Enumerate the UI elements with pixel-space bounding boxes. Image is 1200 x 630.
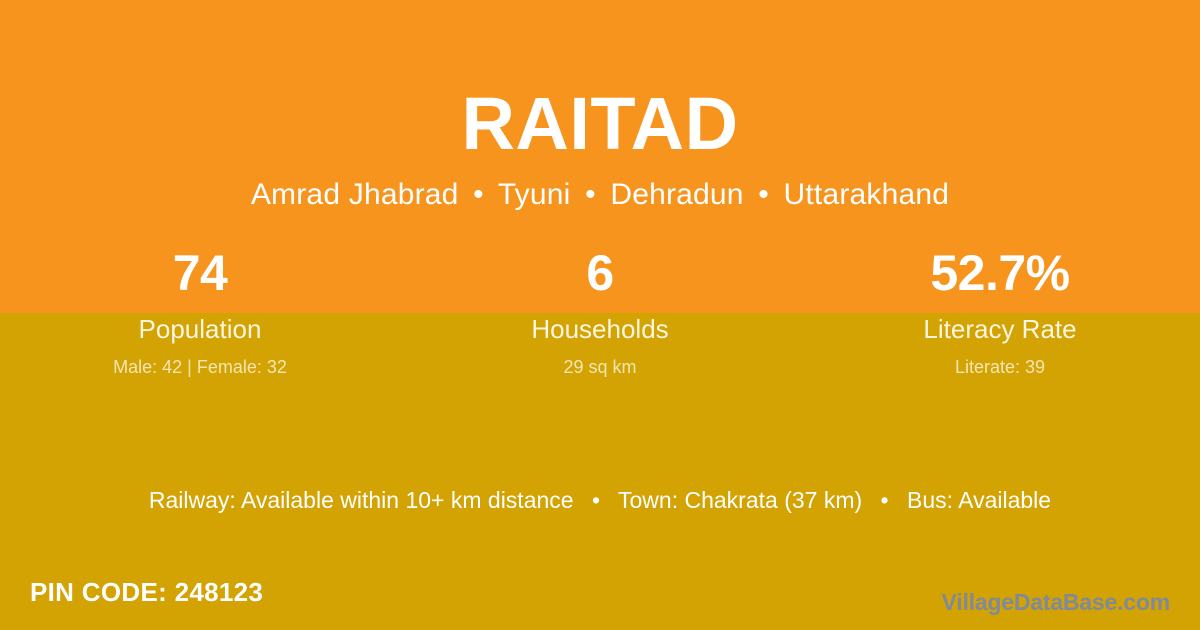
stat-households: 6 Households 29 sq km xyxy=(400,243,800,379)
stat-sublabel: Male: 42 | Female: 32 xyxy=(0,355,400,379)
amenity-separator: • xyxy=(869,487,901,513)
stat-sublabel: 29 sq km xyxy=(400,355,800,379)
amenity-separator: • xyxy=(580,487,612,513)
brand-watermark: VillageDataBase.com xyxy=(942,588,1170,616)
village-info-card: RAITAD Amrad Jhabrad • Tyuni • Dehradun … xyxy=(0,0,1200,630)
breadcrumb-state: Uttarakhand xyxy=(784,178,950,211)
amenity-bus: Bus: Available xyxy=(907,487,1051,513)
breadcrumb-district: Dehradun xyxy=(610,178,743,211)
stat-value: 52.7% xyxy=(800,243,1200,303)
breadcrumb-separator: • xyxy=(467,178,490,211)
amenities-line: Railway: Available within 10+ km distanc… xyxy=(0,483,1200,517)
breadcrumb-separator: • xyxy=(752,178,775,211)
breadcrumb-block: Tyuni xyxy=(498,178,571,211)
stats-row: 74 Population Male: 42 | Female: 32 6 Ho… xyxy=(0,243,1200,379)
amenity-railway: Railway: Available within 10+ km distanc… xyxy=(149,487,574,513)
breadcrumb: Amrad Jhabrad • Tyuni • Dehradun • Uttar… xyxy=(0,168,1200,214)
stat-literacy-rate: 52.7% Literacy Rate Literate: 39 xyxy=(800,243,1200,379)
stat-label: Population xyxy=(0,313,400,345)
stat-value: 74 xyxy=(0,243,400,303)
amenity-town: Town: Chakrata (37 km) xyxy=(618,487,862,513)
breadcrumb-panchayat: Amrad Jhabrad xyxy=(251,178,459,211)
card-header: RAITAD Amrad Jhabrad • Tyuni • Dehradun … xyxy=(0,0,1200,214)
card-footer: PIN CODE: 248123 VillageDataBase.com xyxy=(0,572,1200,630)
stat-label: Households xyxy=(400,313,800,345)
page-title: RAITAD xyxy=(0,0,1200,168)
pin-code: PIN CODE: 248123 xyxy=(30,576,263,608)
stat-sublabel: Literate: 39 xyxy=(800,355,1200,379)
stat-label: Literacy Rate xyxy=(800,313,1200,345)
breadcrumb-separator: • xyxy=(579,178,602,211)
stat-population: 74 Population Male: 42 | Female: 32 xyxy=(0,243,400,379)
stat-value: 6 xyxy=(400,243,800,303)
